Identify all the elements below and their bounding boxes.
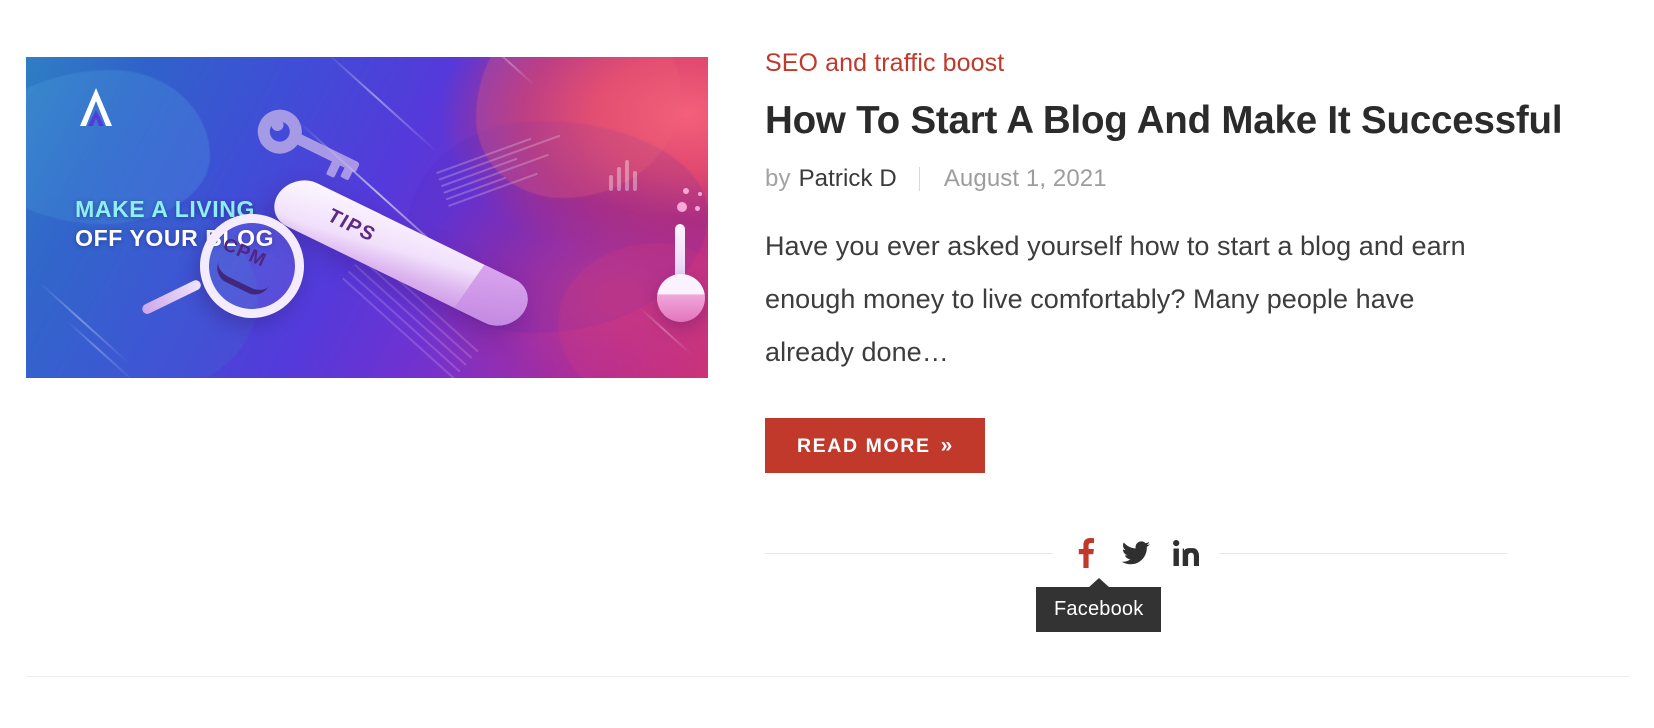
brand-logo-icon <box>75 84 117 130</box>
read-more-button[interactable]: READ MORE» <box>765 418 985 474</box>
share-tooltip: Facebook <box>1036 587 1161 632</box>
double-chevron-right-icon: » <box>941 434 954 457</box>
share-rule-left <box>765 553 1053 554</box>
post-excerpt: Have you ever asked yourself how to star… <box>765 220 1490 380</box>
post-date: August 1, 2021 <box>944 165 1107 194</box>
post-meta: by Patrick D August 1, 2021 <box>765 165 1507 194</box>
byline-prefix: by <box>765 165 791 194</box>
read-more-label: READ MORE <box>797 435 931 457</box>
post-title[interactable]: How To Start A Blog And Make It Successf… <box>765 98 1507 145</box>
share-facebook-button[interactable] <box>1069 536 1103 570</box>
meta-separator <box>919 167 920 191</box>
post-thumbnail-link[interactable]: MAKE A LIVING OFF YOUR BLOG TIPS CPM <box>26 57 708 378</box>
share-icon-group <box>1053 536 1219 570</box>
facebook-icon <box>1075 538 1097 568</box>
twitter-icon <box>1122 541 1150 565</box>
post-category-link[interactable]: SEO and traffic boost <box>765 47 1004 81</box>
blog-post-card: MAKE A LIVING OFF YOUR BLOG TIPS CPM <box>0 0 1654 728</box>
bar-chart-decoration <box>609 160 637 191</box>
card-bottom-divider <box>26 676 1630 677</box>
post-content-column: SEO and traffic boost How To Start A Blo… <box>765 47 1507 473</box>
share-row <box>765 532 1507 574</box>
share-rule-right <box>1219 553 1507 554</box>
searchbar-label: TIPS <box>322 205 379 247</box>
share-twitter-button[interactable] <box>1119 536 1153 570</box>
post-author-link[interactable]: Patrick D <box>799 165 897 194</box>
post-thumbnail-column: MAKE A LIVING OFF YOUR BLOG TIPS CPM <box>26 57 708 378</box>
share-linkedin-button[interactable] <box>1169 536 1203 570</box>
linkedin-icon <box>1173 540 1199 566</box>
